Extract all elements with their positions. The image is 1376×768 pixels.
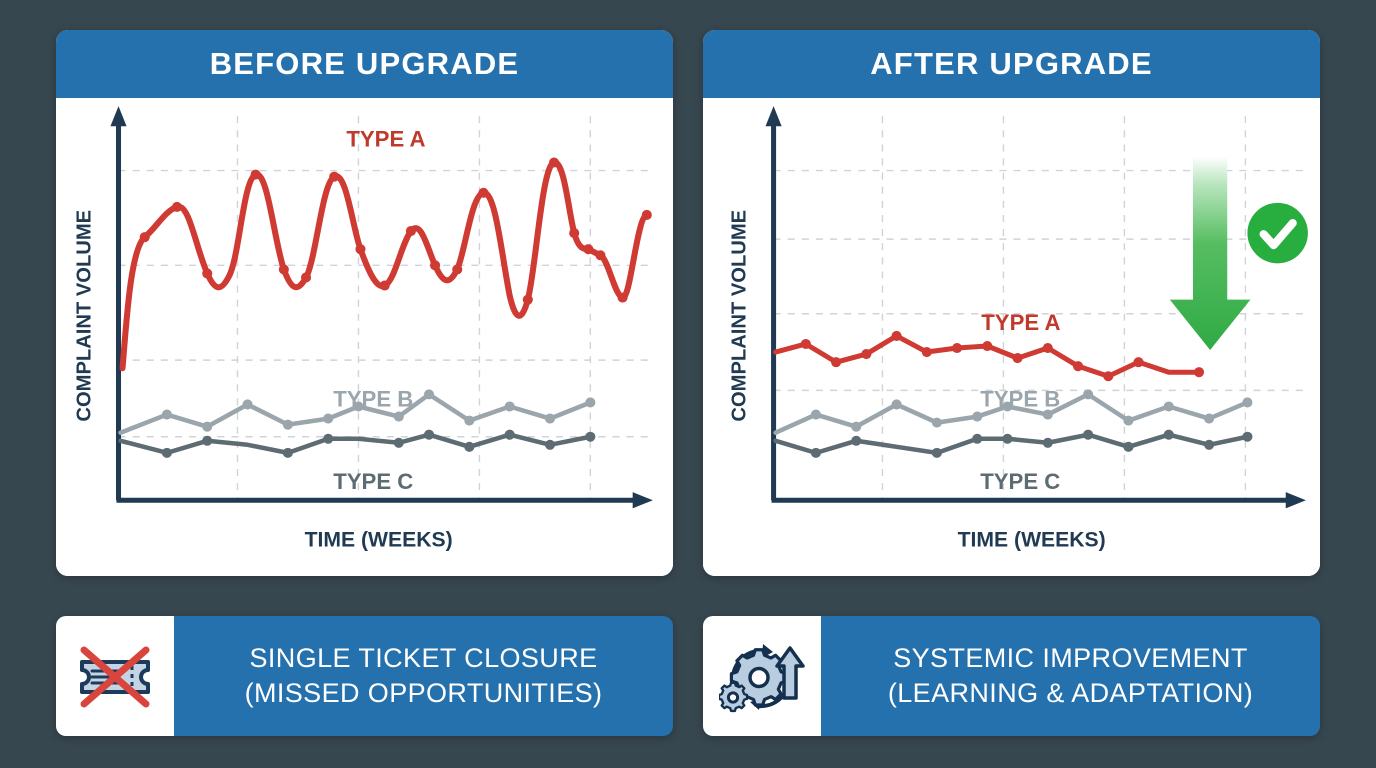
x-axis-label: TIME (WEEKS) xyxy=(958,529,1106,552)
series-label-type-c: TYPE C xyxy=(333,469,413,494)
banner-icon-box-right xyxy=(703,616,821,736)
series-markers-type-a xyxy=(140,157,652,304)
panel-title-before: BEFORE UPGRADE xyxy=(210,46,520,82)
banner-line-1: SINGLE TICKET CLOSURE xyxy=(250,641,598,676)
green-check-badge-icon xyxy=(1247,203,1307,263)
panel-body-before: TYPE A TYPE B TYPE C COMPLAINT VOLUME TI… xyxy=(56,98,673,576)
panel-body-after: TYPE A TYPE B TYPE C COMPLAINT VOLUME TI… xyxy=(703,98,1320,576)
y-axis-label: COMPLAINT VOLUME xyxy=(728,210,750,422)
banner-text-box-left: SINGLE TICKET CLOSURE (MISSED OPPORTUNIT… xyxy=(174,616,673,736)
series-label-type-b: TYPE B xyxy=(980,386,1060,411)
banner-single-ticket-closure: SINGLE TICKET CLOSURE (MISSED OPPORTUNIT… xyxy=(56,616,673,736)
series-label-type-c: TYPE C xyxy=(980,469,1060,494)
banner-icon-box-left xyxy=(56,616,174,736)
after-upgrade-chart: TYPE A TYPE B TYPE C COMPLAINT VOLUME TI… xyxy=(703,98,1320,576)
banner-text-box-right: SYSTEMIC IMPROVEMENT (LEARNING & ADAPTAT… xyxy=(821,616,1320,736)
panels-row: BEFORE UPGRADE xyxy=(56,30,1320,576)
panel-title-after: AFTER UPGRADE xyxy=(870,46,1153,82)
series-line-type-c xyxy=(121,435,591,453)
panel-header-before: BEFORE UPGRADE xyxy=(56,30,673,98)
banner-line-2: (LEARNING & ADAPTATION) xyxy=(888,676,1253,711)
panel-card-before: BEFORE UPGRADE xyxy=(56,30,673,576)
panel-header-after: AFTER UPGRADE xyxy=(703,30,1320,98)
series-line-type-a xyxy=(123,162,647,368)
panel-card-after: AFTER UPGRADE xyxy=(703,30,1320,576)
green-down-arrow-icon xyxy=(1170,156,1251,350)
series-label-type-a: TYPE A xyxy=(981,310,1060,335)
series-label-type-b: TYPE B xyxy=(333,386,413,411)
gears-improvement-icon xyxy=(719,636,805,716)
x-axis-label: TIME (WEEKS) xyxy=(305,529,453,552)
banners-row: SINGLE TICKET CLOSURE (MISSED OPPORTUNIT… xyxy=(56,616,1320,736)
banner-line-1: SYSTEMIC IMPROVEMENT xyxy=(893,641,1248,676)
banner-line-2: (MISSED OPPORTUNITIES) xyxy=(245,676,603,711)
small-gear xyxy=(719,683,747,711)
crossed-ticket-icon xyxy=(72,640,158,712)
y-axis-label: COMPLAINT VOLUME xyxy=(73,210,95,422)
chart-axes xyxy=(110,106,652,508)
infographic-stage: BEFORE UPGRADE xyxy=(0,0,1376,768)
before-upgrade-chart: TYPE A TYPE B TYPE C COMPLAINT VOLUME TI… xyxy=(56,98,673,576)
banner-systemic-improvement: SYSTEMIC IMPROVEMENT (LEARNING & ADAPTAT… xyxy=(703,616,1320,736)
series-label-type-a: TYPE A xyxy=(346,126,425,151)
